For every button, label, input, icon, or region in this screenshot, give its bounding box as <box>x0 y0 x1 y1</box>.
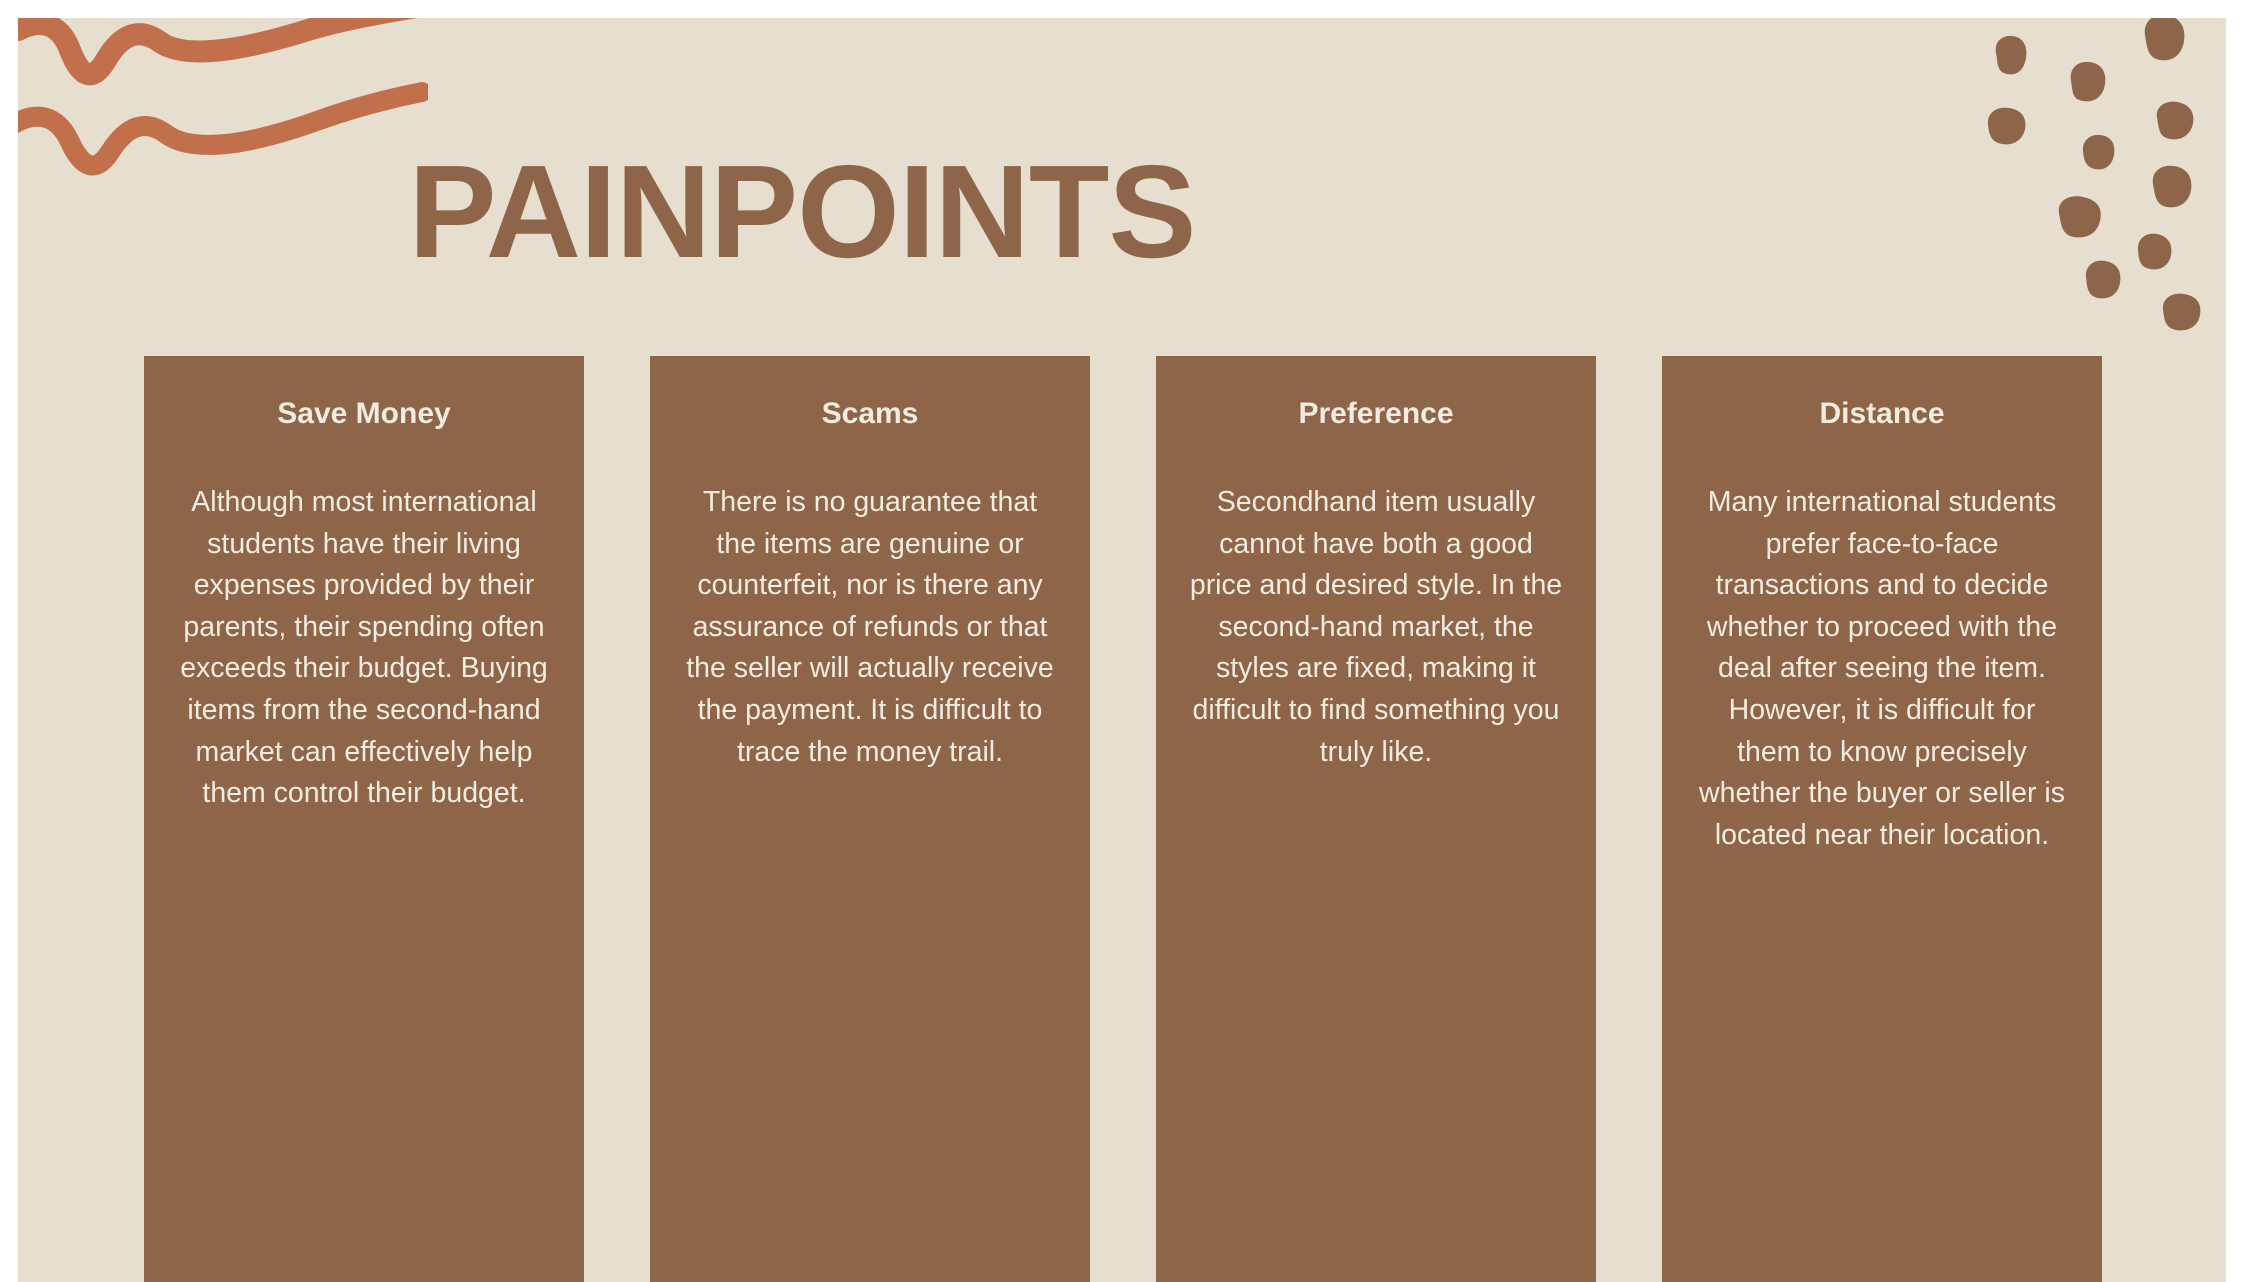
painpoint-card: Preference Secondhand item usually canno… <box>1156 356 1596 1282</box>
card-title: Preference <box>1182 396 1570 432</box>
painpoint-card: Distance Many international students pre… <box>1662 356 2102 1282</box>
card-body: There is no guarantee that the items are… <box>676 482 1064 773</box>
painpoint-card: Save Money Although most international s… <box>144 356 584 1282</box>
card-body: Although most international students hav… <box>170 482 558 815</box>
card-body: Secondhand item usually cannot have both… <box>1182 482 1570 773</box>
painpoints-card-row: Save Money Although most international s… <box>144 356 2102 1282</box>
card-title: Distance <box>1688 396 2076 432</box>
card-title: Scams <box>676 396 1064 432</box>
painpoint-card: Scams There is no guarantee that the ite… <box>650 356 1090 1282</box>
slide-canvas: PAINPOINTS Save Money Although most inte… <box>18 18 2226 1282</box>
card-title: Save Money <box>170 396 558 432</box>
card-body: Many international students prefer face-… <box>1688 482 2076 856</box>
scattered-dots-decoration <box>1976 18 2226 348</box>
page-title: PAINPOINTS <box>18 146 1586 278</box>
